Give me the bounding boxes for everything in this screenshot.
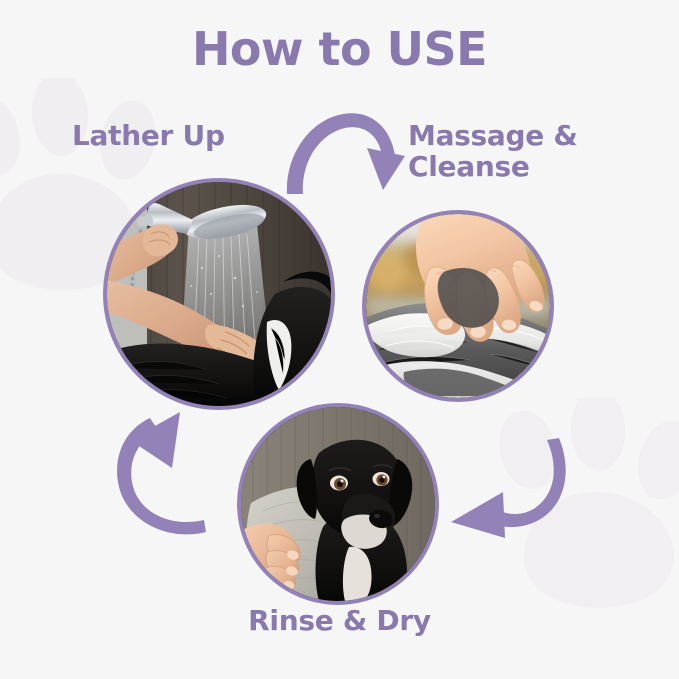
step-image-lather-up: [103, 178, 335, 410]
step-image-massage-cleanse: [362, 210, 554, 402]
photo-rinse-dry: [241, 407, 435, 601]
step-label-rinse-dry: Rinse & Dry: [0, 605, 679, 636]
photo-massage-cleanse: [366, 214, 550, 398]
arrow-rinse-to-lather-icon: [108, 408, 230, 536]
paw-print-icon: [484, 398, 679, 628]
step-label-lather-up: Lather Up: [72, 120, 225, 151]
step-label-massage-cleanse: Massage & Cleanse: [408, 120, 577, 183]
step-image-rinse-dry: [237, 403, 439, 605]
infographic-canvas: How to USE Lather Up Massage & Cleanse R…: [0, 0, 679, 679]
page-title: How to USE: [0, 22, 679, 76]
arrow-massage-to-rinse-icon: [447, 438, 571, 544]
photo-lather-up: [107, 182, 331, 406]
arrow-lather-to-massage-icon: [283, 98, 405, 206]
